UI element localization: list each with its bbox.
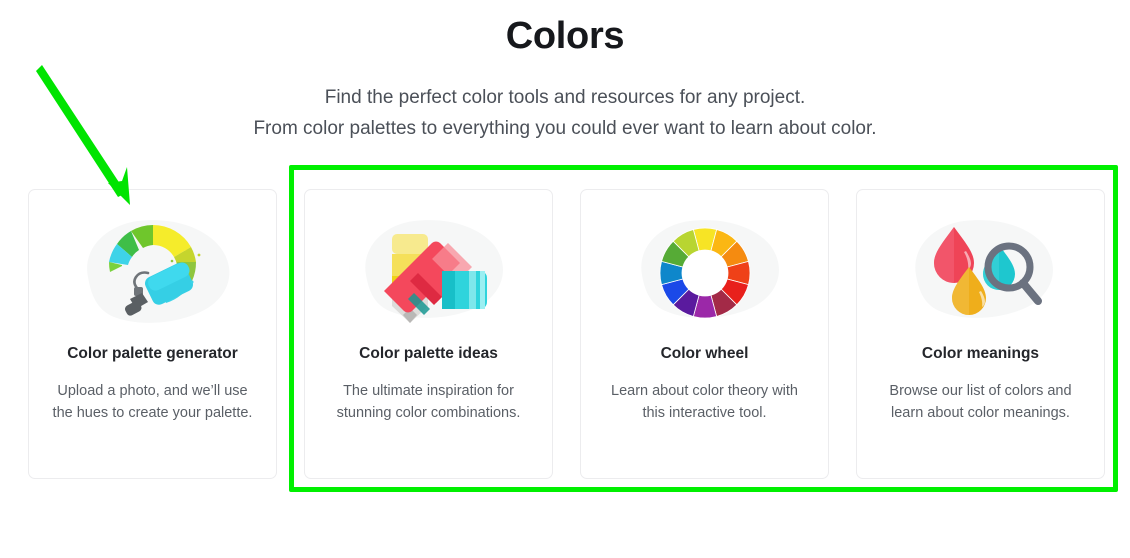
color-wheel-icon [615,208,795,338]
card-title: Color wheel [661,344,749,364]
tool-cards-row: Color palette generator Upload a photo, … [0,189,1130,479]
card-description: Upload a photo, and we’ll use the hues t… [50,380,255,424]
subtitle-line-2: From color palettes to everything you co… [0,113,1130,144]
card-description: Learn about color theory with this inter… [602,380,807,424]
card-color-meanings[interactable]: Color meanings Browse our list of colors… [856,189,1105,479]
colors-landing-page: Colors Find the perfect color tools and … [0,0,1130,558]
card-color-wheel[interactable]: Color wheel Learn about color theory wit… [580,189,829,479]
paint-roller-arc-icon [63,208,243,338]
subtitle-line-1: Find the perfect color tools and resourc… [0,82,1130,113]
card-title: Color palette ideas [359,344,498,364]
page-title: Colors [0,12,1130,60]
card-title: Color meanings [922,344,1039,364]
card-description: Browse our list of colors and learn abou… [878,380,1083,424]
card-color-palette-ideas[interactable]: Color palette ideas The ultimate inspira… [304,189,553,479]
card-title: Color palette generator [67,344,238,364]
page-subtitle: Find the perfect color tools and resourc… [0,82,1130,144]
card-description: The ultimate inspiration for stunning co… [326,380,531,424]
pencil-swatches-icon [339,208,519,338]
droplets-magnifier-icon [891,208,1071,338]
card-color-palette-generator[interactable]: Color palette generator Upload a photo, … [28,189,277,479]
